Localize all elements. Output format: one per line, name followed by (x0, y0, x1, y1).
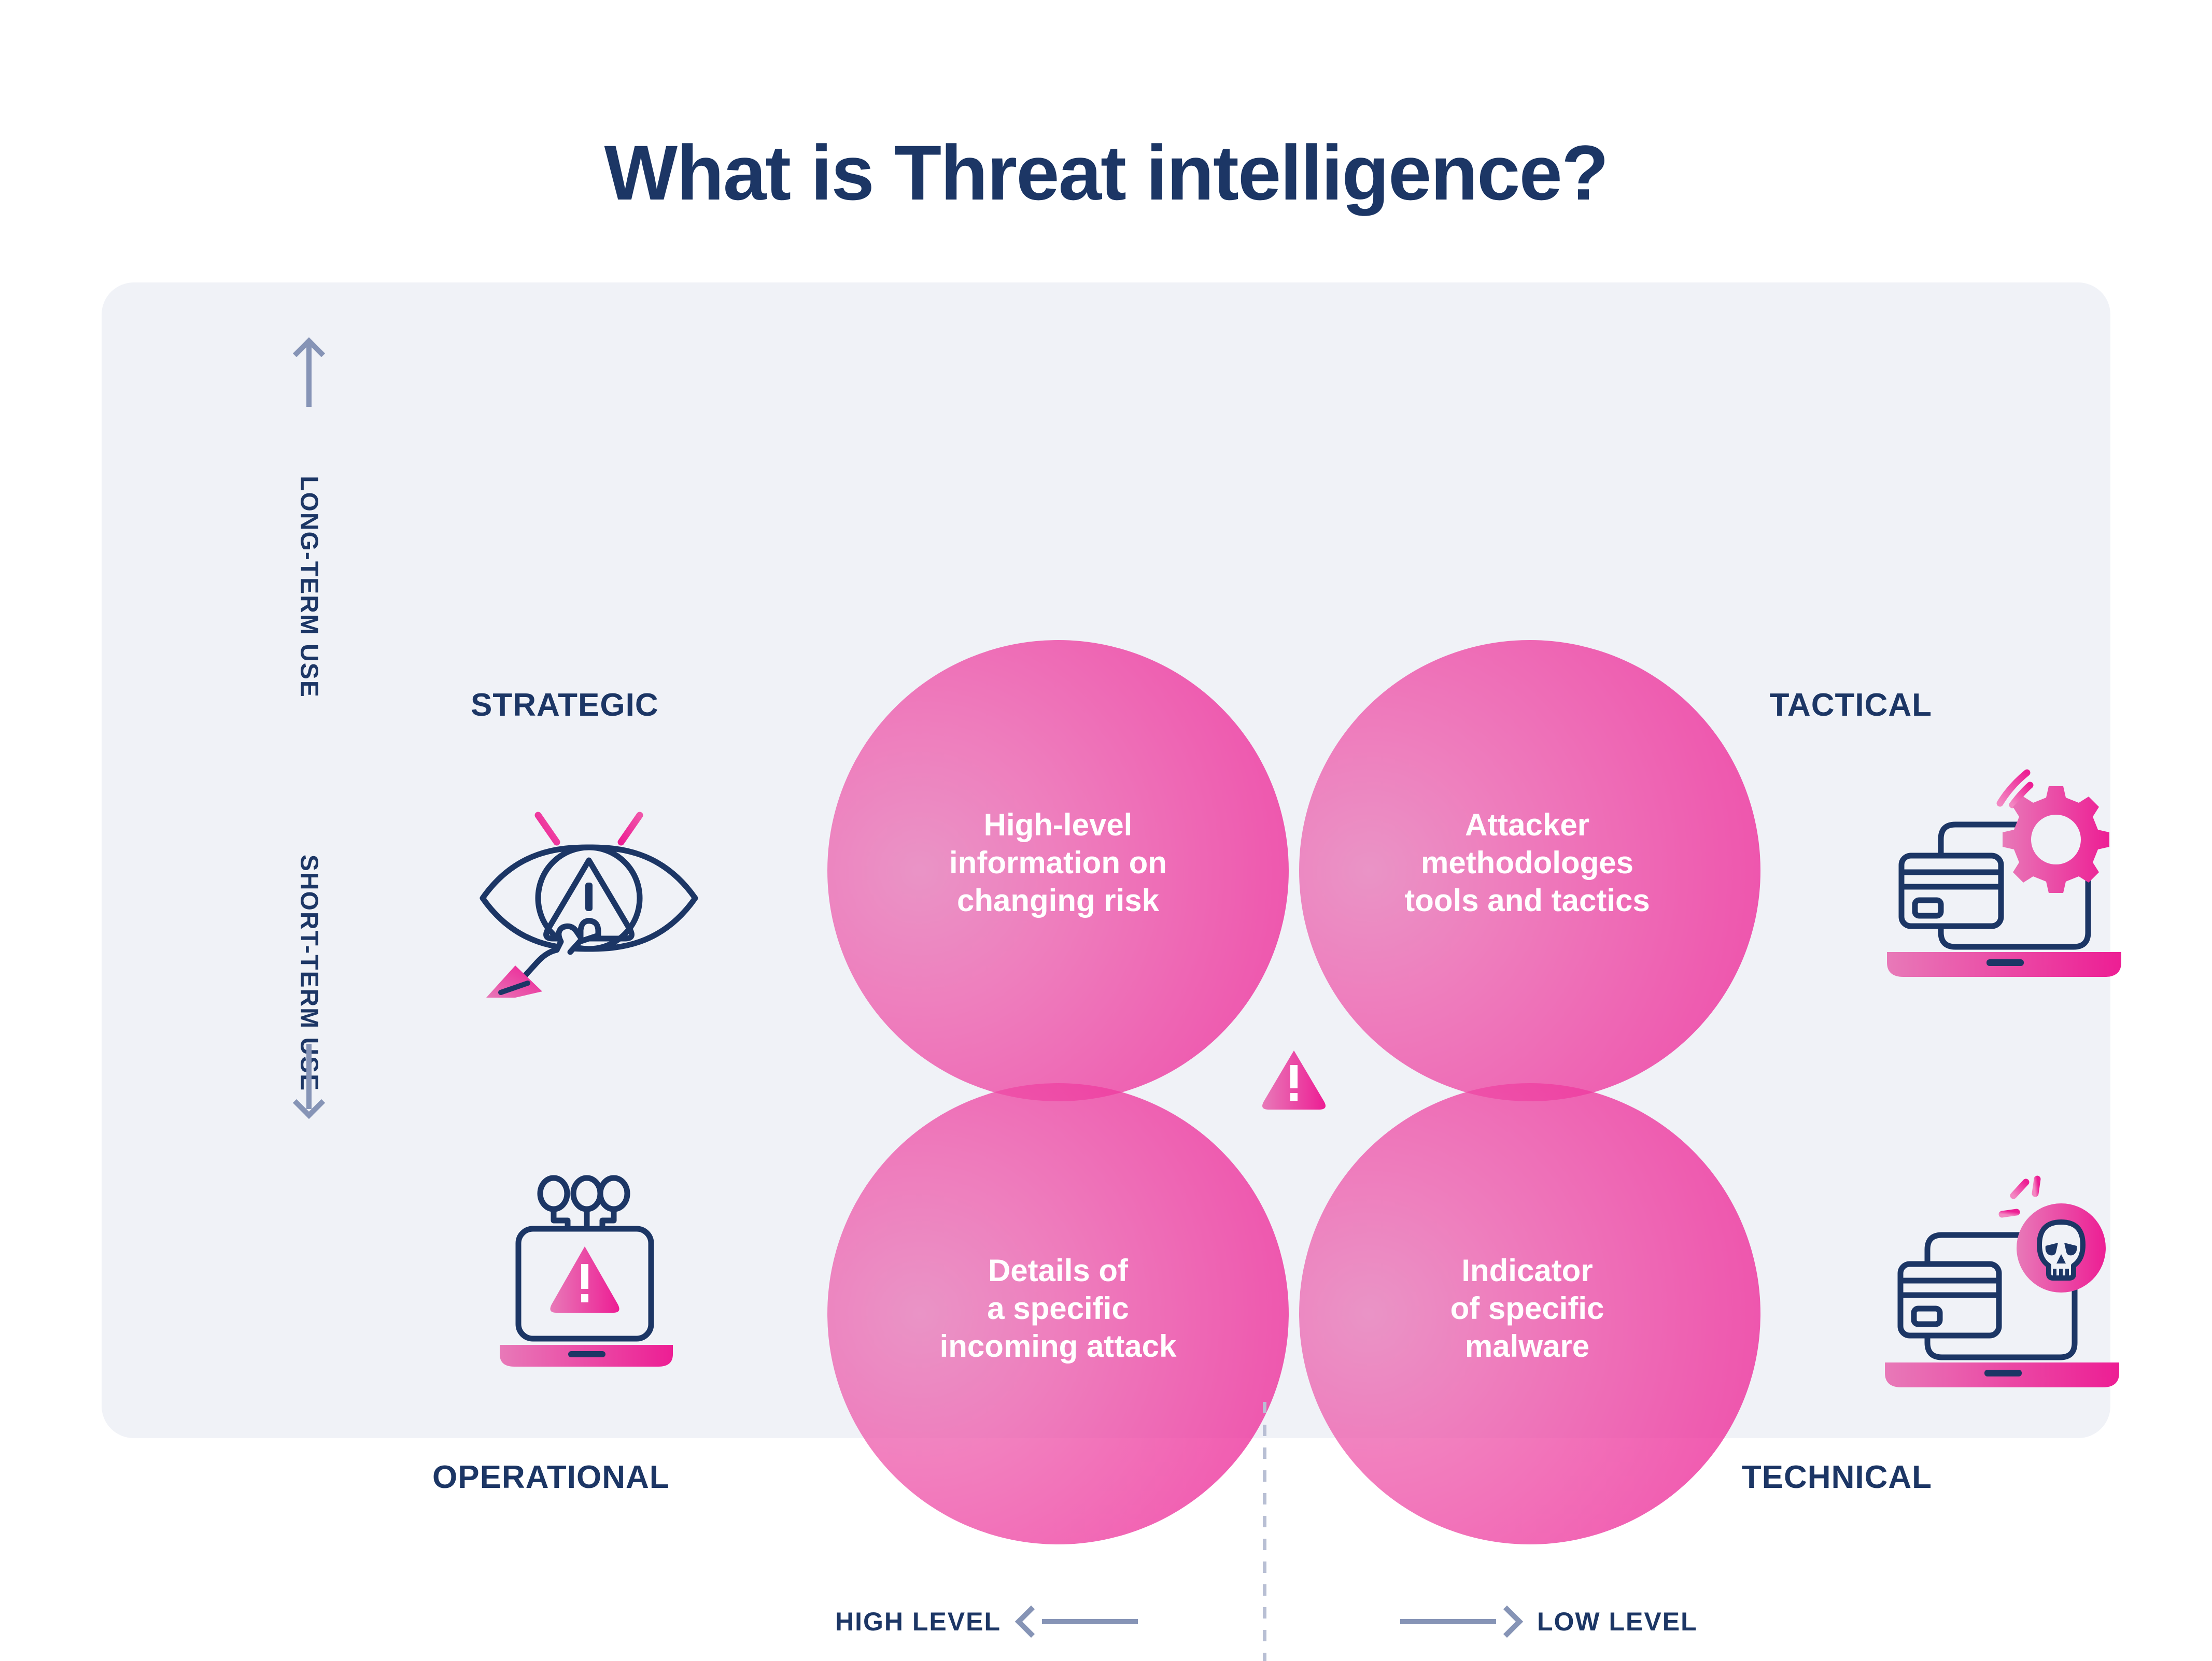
venn-text-technical: Indicator of specific malware (1346, 1252, 1709, 1366)
venn-text-tactical: Attacker methodologes tools and tactics (1346, 806, 1709, 920)
axis-short-term: SHORT-TERM USE (257, 840, 361, 1373)
quadrant-label-tactical: TACTICAL (1770, 687, 1932, 723)
axis-long-term-label: LONG-TERM USE (295, 476, 323, 698)
axis-low-level-label: LOW LEVEL (1537, 1607, 1698, 1637)
laptop-card-gear-icon (1880, 749, 2129, 982)
axis-high-level: HIGH LEVEL (835, 1607, 1138, 1637)
eye-warning-hand-icon (459, 749, 718, 998)
venn-text-operational: Details of a specific incoming attack (877, 1252, 1239, 1366)
arrow-up-head-icon (293, 337, 325, 370)
vertical-divider (1263, 1402, 1266, 1661)
axis-long-term: LONG-TERM USE (257, 324, 361, 858)
arrow-left-icon (1019, 1607, 1138, 1636)
venn-text-strategic: High-level information on changing risk (877, 806, 1239, 920)
page-title: What is Threat intelligence? (0, 134, 2212, 211)
warning-triangle-icon (1245, 1029, 1343, 1127)
axis-high-level-label: HIGH LEVEL (835, 1607, 1001, 1637)
laptop-warning-circuit-icon (464, 1153, 708, 1397)
arrow-right-icon (1400, 1607, 1519, 1636)
arrow-down-head-icon (293, 1087, 325, 1119)
quadrant-label-operational: OPERATIONAL (432, 1459, 670, 1496)
quadrant-label-technical: TECHNICAL (1742, 1459, 1932, 1496)
infographic-panel: LONG-TERM USE SHORT-TERM USE STRATEGIC T… (102, 282, 2110, 1438)
axis-low-level: LOW LEVEL (1400, 1607, 1698, 1637)
laptop-card-skull-icon (1880, 1153, 2129, 1397)
venn-diagram: High-level information on changing risk … (827, 640, 1760, 1547)
quadrant-label-strategic: STRATEGIC (471, 687, 659, 723)
